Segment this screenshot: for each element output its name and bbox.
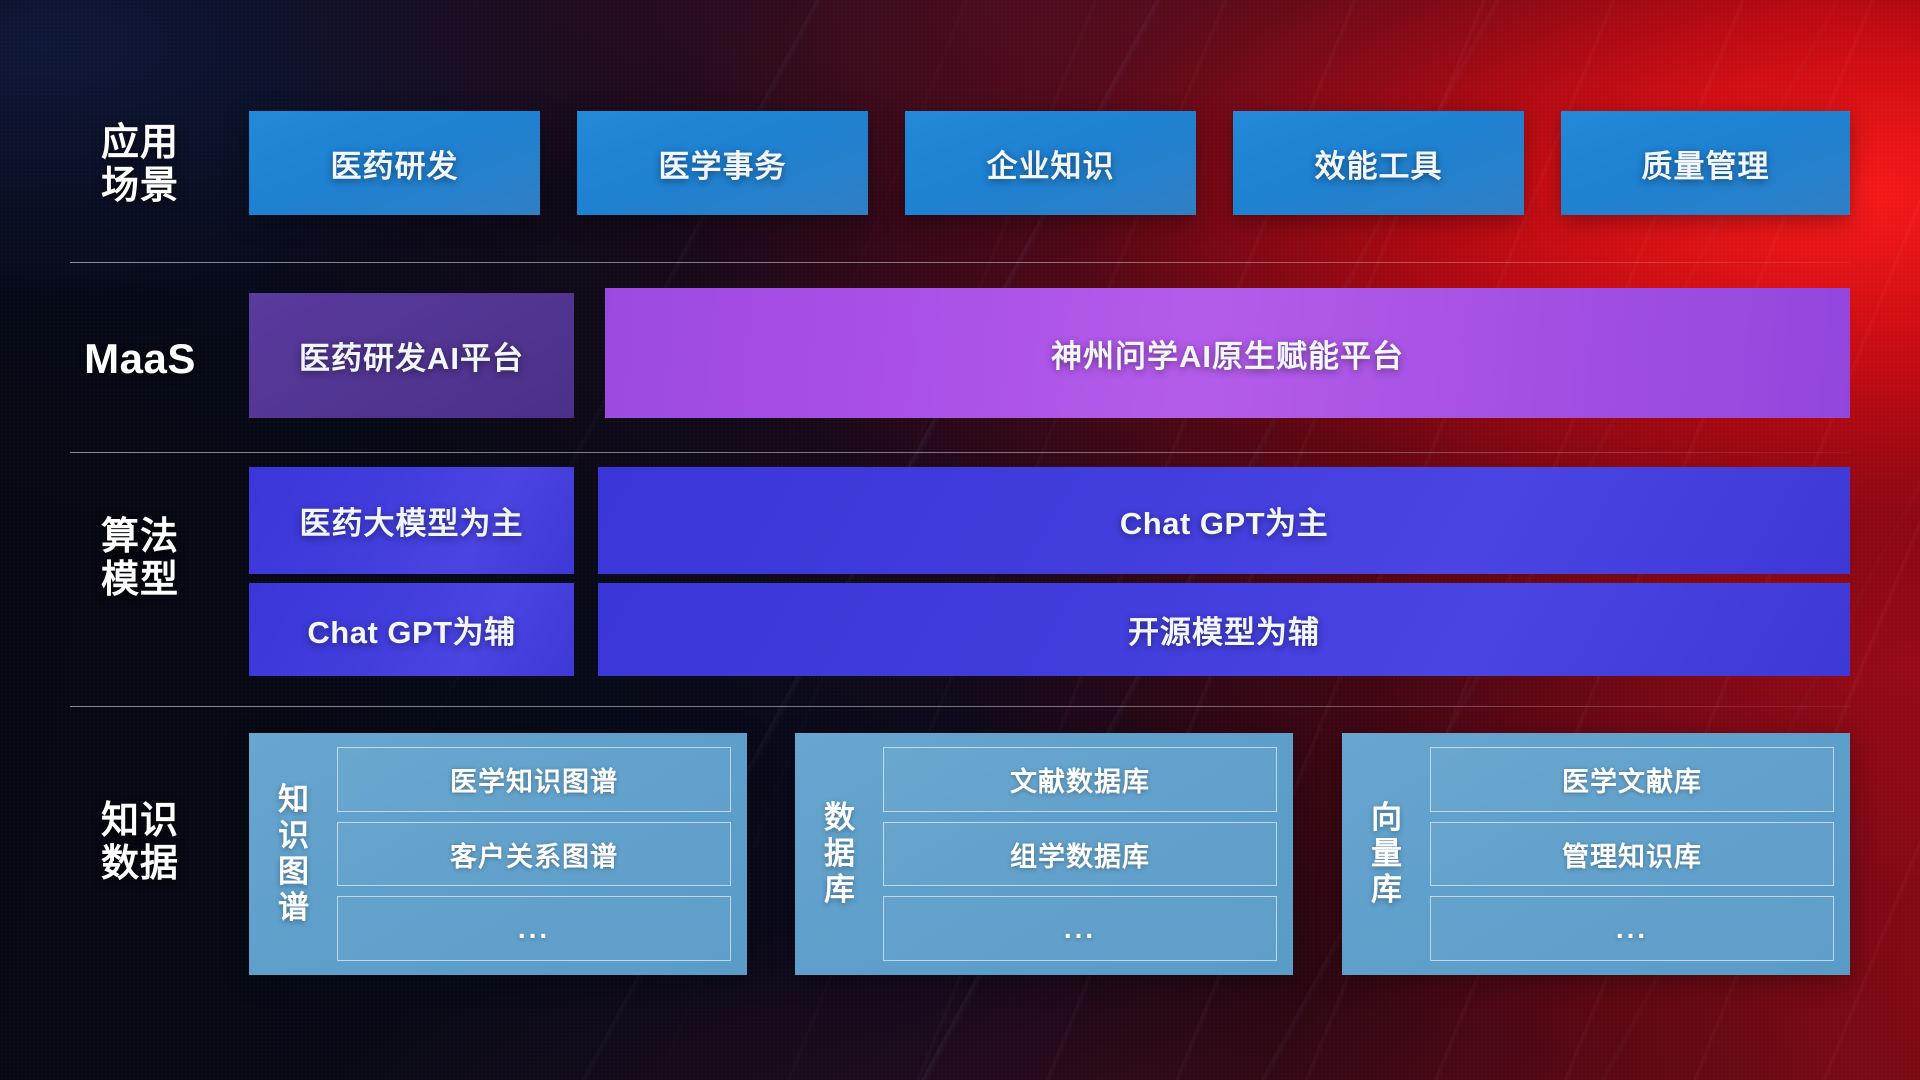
app-tile-5[interactable]: 质量管理 <box>1561 111 1850 215</box>
knowledge-panel-graph-items: 医学知识图谱 客户关系图谱 ... <box>337 747 731 961</box>
knowledge-item-database-2[interactable]: 组学数据库 <box>883 822 1277 887</box>
knowledge-item-vector-3[interactable]: ... <box>1430 896 1834 961</box>
algorithm-cell-r2c1[interactable]: Chat GPT为辅 <box>249 583 574 676</box>
divider-algorithm-knowledge <box>70 706 1850 707</box>
knowledge-panel-vector-label: 向 量 库 <box>1356 800 1418 908</box>
knowledge-panel-database-items: 文献数据库 组学数据库 ... <box>883 747 1277 961</box>
algorithm-cell-r1c1-label: 医药大模型为主 <box>300 498 524 543</box>
knowledge-item-graph-1[interactable]: 医学知识图谱 <box>337 747 731 812</box>
knowledge-panel-database-label: 数 据 库 <box>809 800 871 908</box>
architecture-diagram: 应用 场景 医药研发 医学事务 企业知识 效能工具 质量管理 MaaS 医药研发… <box>0 0 1920 1080</box>
knowledge-panel-database[interactable]: 数 据 库 文献数据库 组学数据库 ... <box>795 733 1293 975</box>
app-tile-2[interactable]: 医学事务 <box>577 111 868 215</box>
knowledge-item-database-1[interactable]: 文献数据库 <box>883 747 1277 812</box>
algorithm-cell-r2c2-label: 开源模型为辅 <box>1128 607 1320 652</box>
slide-canvas: 应用 场景 医药研发 医学事务 企业知识 效能工具 质量管理 MaaS 医药研发… <box>0 0 1920 1080</box>
maas-platform-shenzhou[interactable]: 神州问学AI原生赋能平台 <box>605 288 1850 418</box>
knowledge-item-database-3[interactable]: ... <box>883 896 1277 961</box>
row-label-knowledge-data: 知识 数据 <box>70 800 210 887</box>
app-tile-1[interactable]: 医药研发 <box>249 111 540 215</box>
algorithm-cell-r1c2-label: Chat GPT为主 <box>1120 498 1328 543</box>
divider-maas-algorithm <box>70 452 1850 453</box>
app-tile-4-label: 效能工具 <box>1315 141 1443 186</box>
row-label-application-scenario: 应用 场景 <box>70 122 210 209</box>
knowledge-panel-graph[interactable]: 知 识 图 谱 医学知识图谱 客户关系图谱 ... <box>249 733 747 975</box>
app-tile-3[interactable]: 企业知识 <box>905 111 1196 215</box>
app-tile-3-label: 企业知识 <box>987 141 1115 186</box>
maas-platform-pharma-label: 医药研发AI平台 <box>299 333 524 378</box>
knowledge-panel-vector[interactable]: 向 量 库 医学文献库 管理知识库 ... <box>1342 733 1850 975</box>
app-tile-4[interactable]: 效能工具 <box>1233 111 1524 215</box>
knowledge-item-graph-3[interactable]: ... <box>337 896 731 961</box>
row-label-algorithm-model: 算法 模型 <box>70 516 210 603</box>
algorithm-cell-r2c1-label: Chat GPT为辅 <box>307 607 515 652</box>
knowledge-item-graph-2[interactable]: 客户关系图谱 <box>337 822 731 887</box>
app-tile-2-label: 医学事务 <box>659 141 787 186</box>
divider-application-maas <box>70 262 1850 263</box>
maas-platform-pharma[interactable]: 医药研发AI平台 <box>249 293 574 418</box>
knowledge-item-vector-1[interactable]: 医学文献库 <box>1430 747 1834 812</box>
knowledge-panel-graph-label: 知 识 图 谱 <box>263 782 325 926</box>
app-tile-1-label: 医药研发 <box>331 141 459 186</box>
algorithm-cell-r1c1[interactable]: 医药大模型为主 <box>249 467 574 574</box>
knowledge-panel-vector-items: 医学文献库 管理知识库 ... <box>1430 747 1834 961</box>
row-label-maas: MaaS <box>70 335 210 383</box>
algorithm-cell-r2c2[interactable]: 开源模型为辅 <box>598 583 1850 676</box>
algorithm-cell-r1c2[interactable]: Chat GPT为主 <box>598 467 1850 574</box>
maas-platform-shenzhou-label: 神州问学AI原生赋能平台 <box>1051 331 1404 376</box>
app-tile-5-label: 质量管理 <box>1642 141 1770 186</box>
knowledge-item-vector-2[interactable]: 管理知识库 <box>1430 822 1834 887</box>
